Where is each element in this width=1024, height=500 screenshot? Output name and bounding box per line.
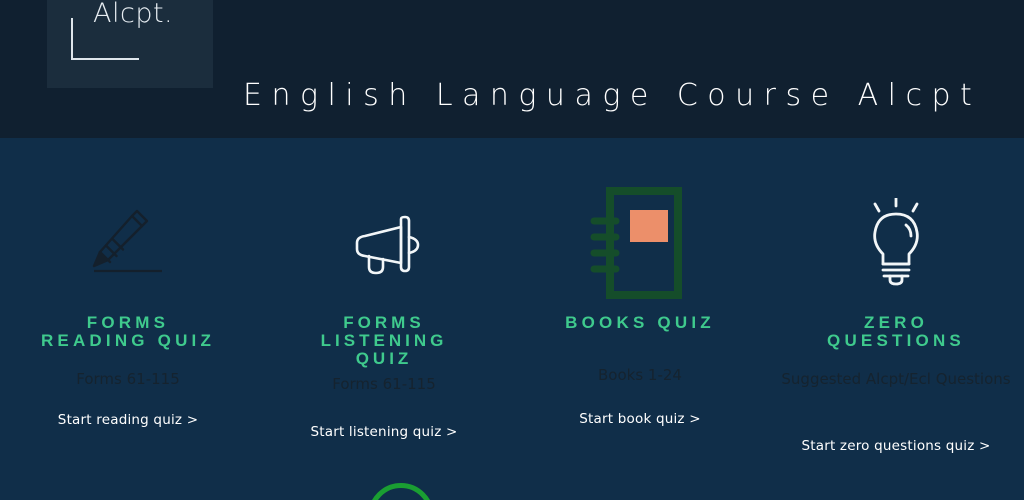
- quiz-card-forms-listening[interactable]: FORMS LISTENING QUIZ Forms 61-115 Start …: [256, 138, 512, 500]
- quiz-card-subtitle: Forms 61-115: [0, 368, 256, 390]
- start-reading-quiz-link[interactable]: Start reading quiz >: [58, 412, 198, 428]
- megaphone-icon: [256, 188, 512, 300]
- quiz-card-forms-reading[interactable]: FORMS READING QUIZ Forms 61-115 Start re…: [0, 138, 256, 500]
- quiz-card-books[interactable]: BOOKS QUIZ Books 1-24 Start book quiz >: [512, 138, 768, 500]
- page-header: Alcpt. English Language Course Alcpt: [0, 0, 1024, 138]
- pencil-icon: [0, 188, 256, 300]
- quiz-card-subtitle: Suggested Alcpt/Ecl Questions: [768, 368, 1024, 390]
- start-book-quiz-link[interactable]: Start book quiz >: [579, 411, 700, 427]
- quiz-card-title: FORMS READING QUIZ: [0, 314, 256, 350]
- lightbulb-icon: [768, 188, 1024, 300]
- quiz-card-grid: FORMS READING QUIZ Forms 61-115 Start re…: [0, 138, 1024, 500]
- start-zero-questions-quiz-link[interactable]: Start zero questions quiz >: [801, 438, 990, 454]
- quiz-card-title: BOOKS QUIZ: [512, 314, 768, 332]
- page-title: English Language Course Alcpt: [243, 78, 981, 113]
- quiz-card-subtitle: Forms 61-115: [256, 373, 512, 395]
- quiz-card-zero-questions[interactable]: ZERO QUESTIONS Suggested Alcpt/Ecl Quest…: [768, 138, 1024, 500]
- quiz-card-title: FORMS LISTENING QUIZ: [256, 314, 512, 368]
- logo-container[interactable]: Alcpt.: [47, 0, 213, 88]
- start-listening-quiz-link[interactable]: Start listening quiz >: [310, 424, 457, 440]
- quiz-card-subtitle: Books 1-24: [512, 364, 768, 386]
- logo-text: Alcpt.: [93, 0, 173, 29]
- quiz-card-title: ZERO QUESTIONS: [768, 314, 1024, 350]
- notebook-icon: [512, 188, 768, 300]
